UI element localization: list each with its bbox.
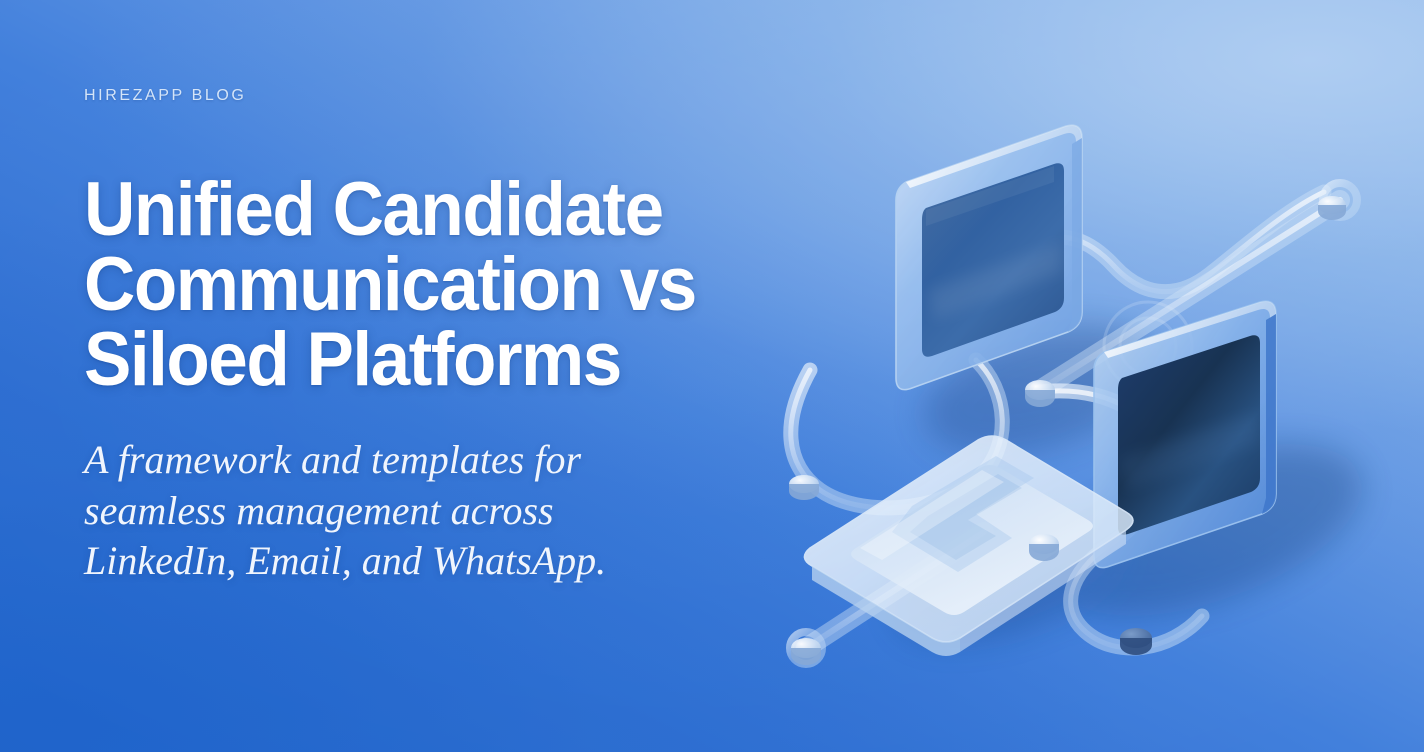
node-center <box>1025 380 1055 407</box>
page-title: Unified Candidate Communication vs Siloe… <box>84 172 739 398</box>
subtitle-line-2: seamless management across <box>84 486 724 536</box>
brand-eyebrow: HIREZAPP BLOG <box>84 87 246 105</box>
node-top-right <box>1318 196 1346 220</box>
node-bottom-right <box>1120 628 1152 655</box>
headline-line-3: Siloed Platforms <box>84 322 739 397</box>
node-left <box>789 475 819 500</box>
headline-line-1: Unified Candidate <box>84 172 739 247</box>
node-bottom-left-cap <box>791 638 821 665</box>
hero-text-column: HIREZAPP BLOG Unified Candidate Communic… <box>84 0 784 752</box>
page-subtitle: A framework and templates for seamless m… <box>84 435 724 586</box>
subtitle-line-1: A framework and templates for <box>84 435 724 485</box>
node-mid-lower <box>1029 534 1059 561</box>
headline-line-2: Communication vs <box>84 247 739 322</box>
hero-illustration <box>740 60 1424 700</box>
subtitle-line-3: LinkedIn, Email, and WhatsApp. <box>84 536 724 586</box>
blog-hero-banner: HIREZAPP BLOG Unified Candidate Communic… <box>0 0 1424 752</box>
